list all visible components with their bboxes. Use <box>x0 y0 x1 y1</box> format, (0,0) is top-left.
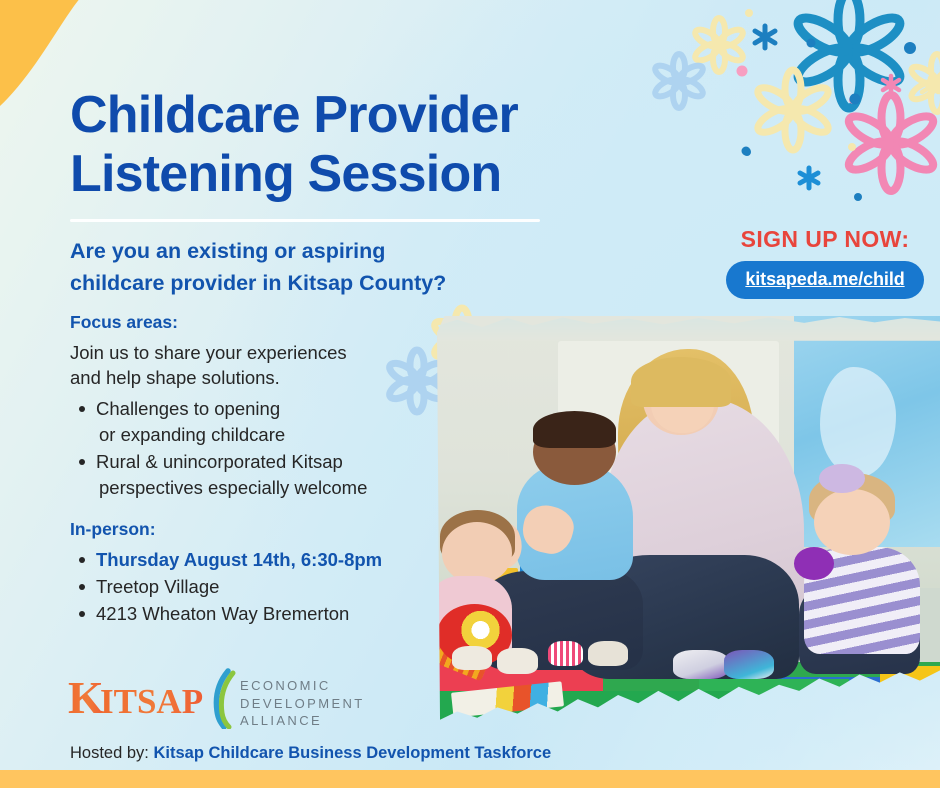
focus-areas-label: Focus areas: <box>70 310 450 334</box>
list-item: Challenges to opening or expanding child… <box>96 396 450 448</box>
flower-cream-small <box>693 18 746 72</box>
subheading: Are you an existing or aspiring childcar… <box>70 235 530 299</box>
flower-cream-mid <box>754 70 831 150</box>
sparkle-asterisk-2 <box>800 168 818 188</box>
focus-body-line-1: Join us to share your experiences <box>70 340 450 365</box>
bullet-line-1: Rural & unincorporated Kitsap <box>96 451 343 472</box>
dot-cluster <box>737 9 917 201</box>
svg-text:K: K <box>68 673 104 723</box>
signup-label: SIGN UP NOW: <box>725 226 925 253</box>
title-divider <box>70 219 540 222</box>
page-title: Childcare Provider Listening Session <box>70 86 630 204</box>
signup-block: SIGN UP NOW: kitsapeda.me/child <box>725 226 925 299</box>
kitsap-wordmark: K ITSAP <box>68 673 208 723</box>
hosted-by-organization: Kitsap Childcare Business Development Ta… <box>153 744 551 762</box>
title-line-2: Listening Session <box>70 145 630 204</box>
svg-text:ITSAP: ITSAP <box>100 682 203 721</box>
tagline-line-2: DEVELOPMENT <box>240 695 365 713</box>
hosted-by-line: Hosted by: Kitsap Childcare Business Dev… <box>70 744 551 763</box>
in-person-label: In-person: <box>70 517 450 541</box>
bottom-accent-bar <box>0 770 940 788</box>
bullet-line-2: perspectives especially welcome <box>96 475 450 501</box>
in-person-bullets: Thursday August 14th, 6:30-8pm Treetop V… <box>70 547 450 627</box>
flower-blue-small <box>653 54 706 108</box>
list-item: Rural & unincorporated Kitsap perspectiv… <box>96 449 450 501</box>
hosted-by-prefix: Hosted by: <box>70 744 149 762</box>
subheading-line-2: childcare provider in Kitsap County? <box>70 267 530 299</box>
sparkle-asterisk-1 <box>755 26 775 48</box>
subheading-line-1: Are you an existing or aspiring <box>70 235 530 267</box>
list-item-datetime: Thursday August 14th, 6:30-8pm <box>96 547 450 573</box>
sparkle-asterisk-pink <box>883 76 899 94</box>
bullet-line-1: Challenges to opening <box>96 398 280 419</box>
flower-teal-large <box>793 0 904 108</box>
title-line-1: Childcare Provider <box>70 86 630 145</box>
tagline-line-3: ALLIANCE <box>240 712 365 730</box>
list-item-venue: Treetop Village <box>96 574 450 600</box>
kitsap-eda-logo: K ITSAP ECONOMIC DEVELOPMENT ALLIANCE <box>68 667 358 729</box>
focus-areas-body: Join us to share your experiences and he… <box>70 340 450 390</box>
poster-canvas: Childcare Provider Listening Session Are… <box>0 0 940 788</box>
signup-url-button[interactable]: kitsapeda.me/child <box>726 261 923 299</box>
bullet-line-2: or expanding childcare <box>96 422 450 448</box>
focus-body-line-2: and help shape solutions. <box>70 365 450 390</box>
focus-areas-bullets: Challenges to opening or expanding child… <box>70 396 450 501</box>
list-item-address: 4213 Wheaton Way Bremerton <box>96 601 450 627</box>
in-person-section: In-person: Thursday August 14th, 6:30-8p… <box>70 517 450 628</box>
sparkle-asterisk-cream <box>922 78 938 96</box>
flower-pink-large <box>845 95 938 191</box>
focus-areas-section: Focus areas: Join us to share your exper… <box>70 310 450 502</box>
tagline-line-1: ECONOMIC <box>240 677 365 695</box>
swoosh-icon <box>208 667 242 734</box>
childcare-photo <box>437 316 940 728</box>
eda-tagline: ECONOMIC DEVELOPMENT ALLIANCE <box>240 677 365 730</box>
flower-cream-edge <box>909 54 940 112</box>
